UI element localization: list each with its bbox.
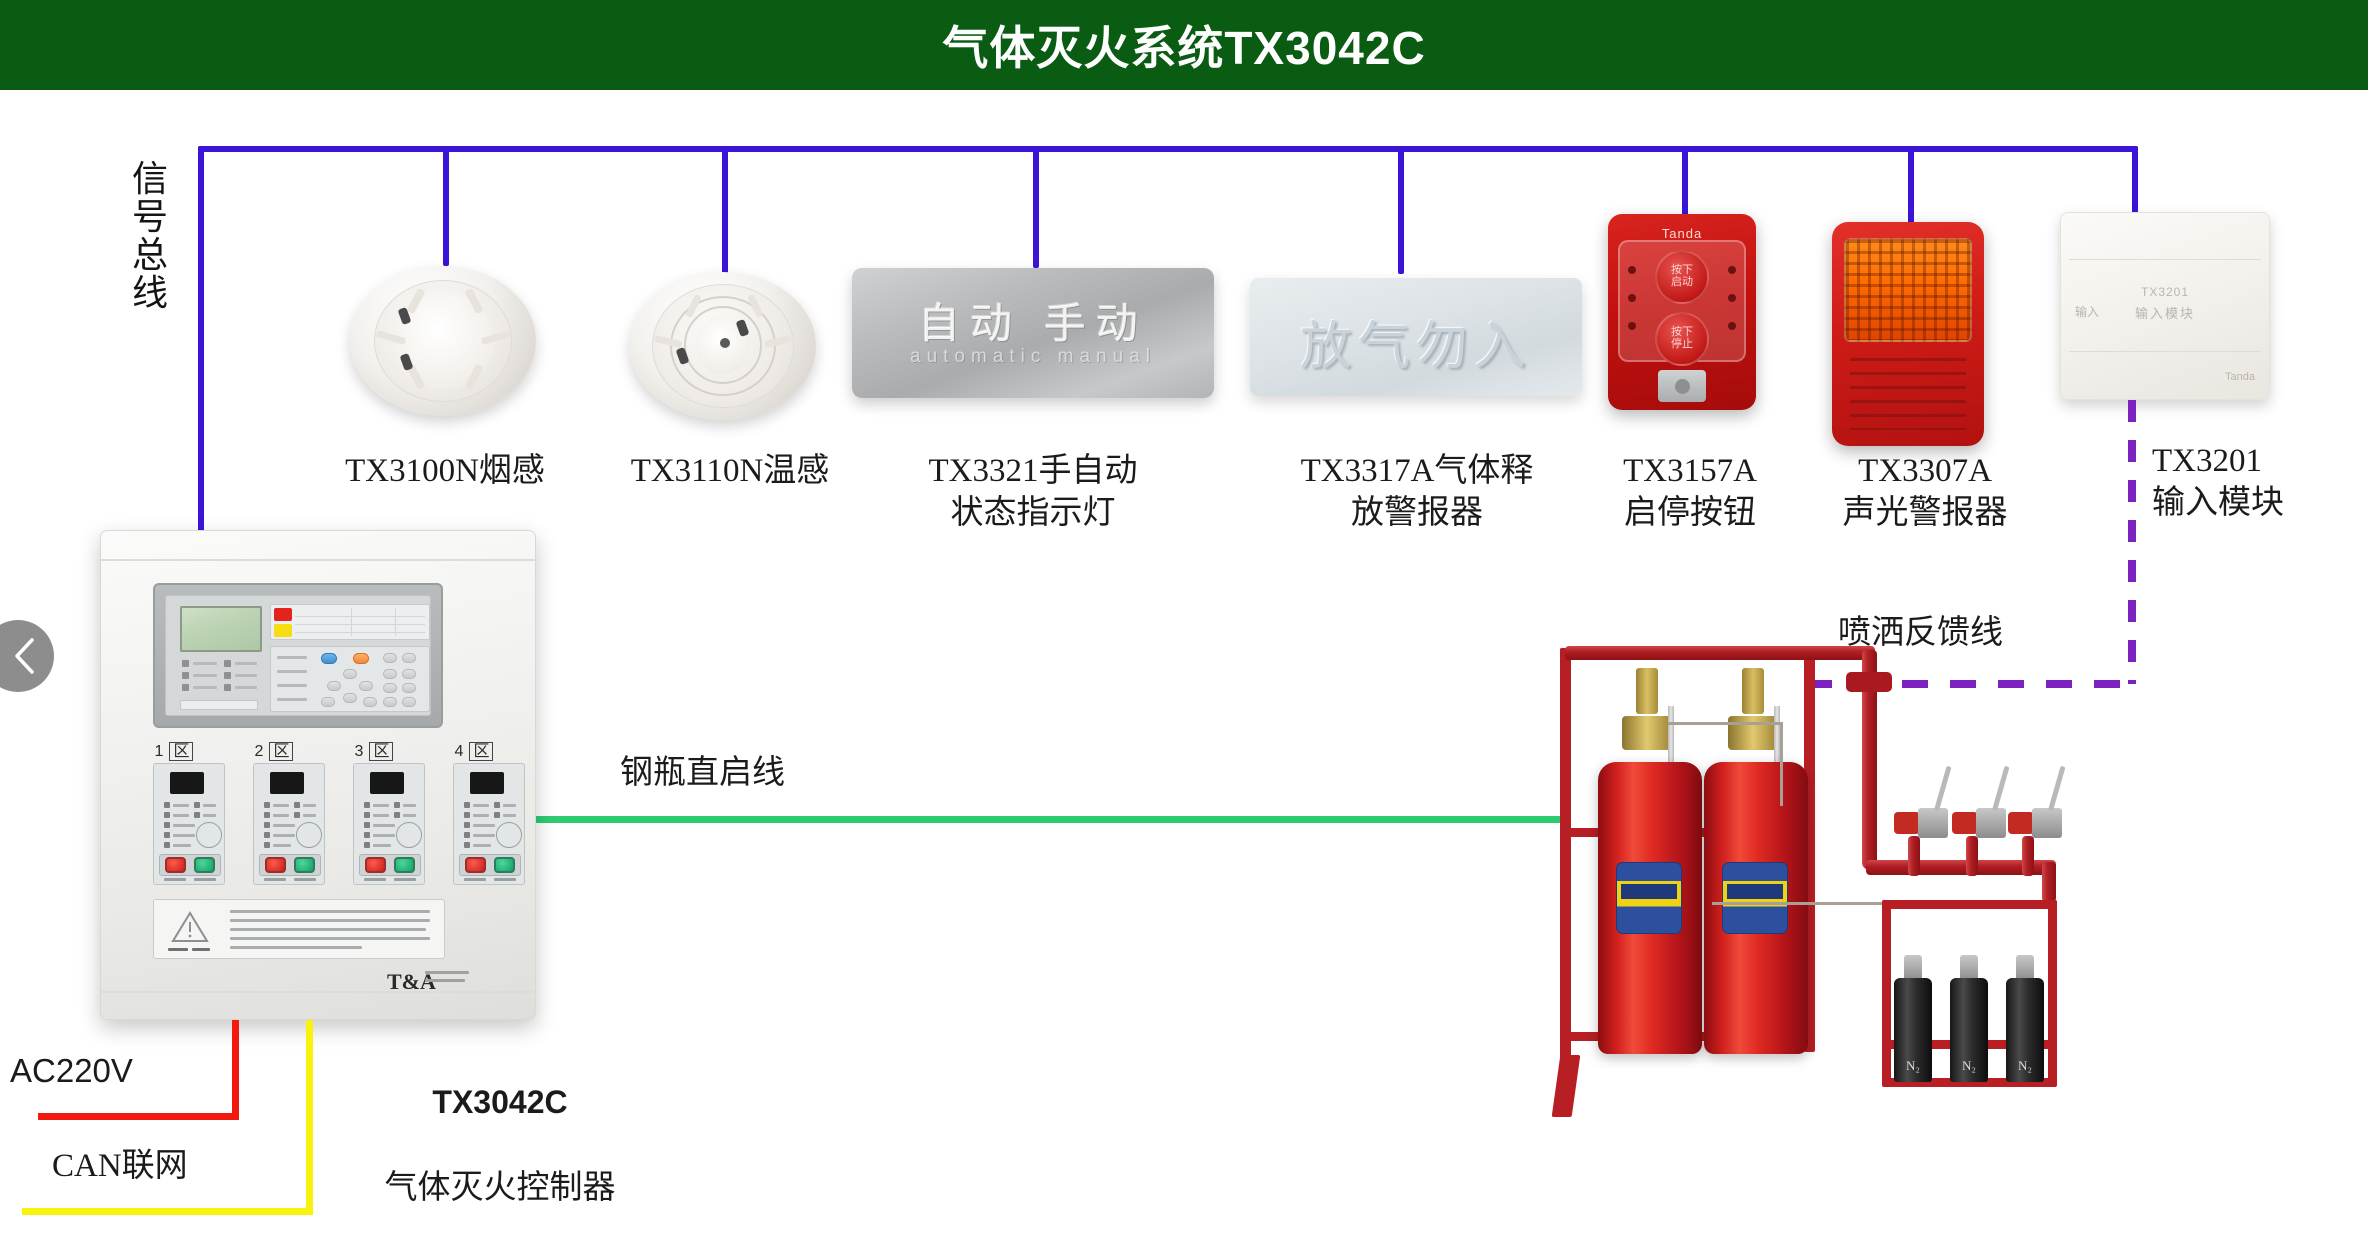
device-tx3157a-start-stop-button[interactable]: Tanda 按下 启动 按下 停止 xyxy=(1608,214,1756,410)
key-switch[interactable] xyxy=(1658,370,1706,402)
n2-actuator-head-2 xyxy=(1952,812,1978,834)
device-tx3317a-gas-release-sign[interactable]: 放气勿入 xyxy=(1250,278,1582,396)
chevron-left-icon xyxy=(12,636,38,676)
manifold-pipe-top xyxy=(1565,646,1875,660)
zone-suffix-2: 区 xyxy=(269,742,293,761)
key-num-2[interactable] xyxy=(402,669,416,679)
key-f1[interactable] xyxy=(383,653,397,663)
cylinder-frame-left xyxy=(1560,648,1571,1064)
panel-caption: TX3042C 气体灭火控制器 xyxy=(330,1040,670,1209)
speaker-grille xyxy=(1850,358,1966,430)
bus-label-char-2: 总 xyxy=(122,236,178,274)
can-network-label: CAN联网 xyxy=(52,1145,292,1187)
signal-bus-trunk xyxy=(198,146,2138,152)
n2-rack-left xyxy=(1882,900,1891,1086)
module-brand-text: Tanda xyxy=(2117,371,2255,383)
panel-keypad[interactable] xyxy=(270,646,430,712)
status-legend-panel xyxy=(270,604,430,640)
status-led-6 xyxy=(224,684,231,691)
cylinder-1-pilot-tube xyxy=(1668,706,1674,768)
device-tx3321-status-indicator[interactable]: 自动 手动 automatic manual xyxy=(852,268,1214,398)
status-led-5 xyxy=(224,672,231,679)
key-num-4[interactable] xyxy=(402,683,416,693)
spray-feedback-wire-vertical xyxy=(2128,400,2136,684)
indicator-led-5 xyxy=(1728,294,1736,302)
signal-bus-drop-tx3317a xyxy=(1398,146,1404,274)
n2-downpipe-1 xyxy=(1908,836,1920,876)
manifold-pipe-down xyxy=(1862,650,1877,770)
lcd-screen xyxy=(180,606,262,652)
rack-pipe-down xyxy=(2042,862,2056,902)
zone-header-3: 3区 xyxy=(329,737,419,761)
device-label-tx3307a: TX3307A 声光警报器 xyxy=(1790,450,2060,534)
signal-bus-drop-tx3157a xyxy=(1682,146,1688,218)
cylinder-2-label xyxy=(1722,862,1788,934)
device-label-tx3201: TX3201 输入模块 xyxy=(2152,440,2362,524)
prev-slide-button[interactable] xyxy=(0,620,54,692)
manifold-pipe-down2 xyxy=(1862,760,1877,870)
zone-start-button[interactable] xyxy=(465,857,486,873)
device-label-tx3110n: TX3110N温感 xyxy=(555,450,905,492)
signal-bus-drop-tx3110n xyxy=(722,146,728,274)
pilot-line-a xyxy=(1668,722,1782,725)
ac220v-wire-horizontal xyxy=(38,1113,239,1120)
zone-stop-button[interactable] xyxy=(394,857,415,873)
pilot-line-b xyxy=(1780,722,1783,806)
indicator-led-4 xyxy=(1728,266,1736,274)
device-label-tx3157a: TX3157A 启停按钮 xyxy=(1570,450,1810,534)
device-tx3042c-control-panel[interactable]: 1区 2区 3区 4区 xyxy=(100,530,536,1020)
fire-alarm-chip xyxy=(274,608,292,621)
strobe-lens xyxy=(1844,238,1972,342)
n2-actuator-valve-2 xyxy=(1976,808,2006,838)
page-header: 气体灭火系统TX3042C xyxy=(0,0,2368,90)
zone-stop-button[interactable] xyxy=(494,857,515,873)
panel-display-inset xyxy=(165,595,431,716)
panel-display-bezel xyxy=(153,583,443,728)
device-tx3100n-smoke-detector[interactable] xyxy=(350,266,536,416)
device-tx3307a-sounder-strobe[interactable] xyxy=(1832,222,1984,446)
panel-warning-plate xyxy=(153,899,445,959)
signal-bus-drop-tx3201 xyxy=(2132,146,2138,214)
key-left[interactable] xyxy=(327,681,341,691)
module-model-text: TX3201 xyxy=(2061,285,2269,299)
key-cancel[interactable] xyxy=(353,653,369,664)
n2-bottle-label-2: N₂ xyxy=(1950,1058,1988,1074)
zone-dial xyxy=(196,822,222,848)
start-button[interactable]: 按下 启动 xyxy=(1655,250,1709,304)
key-down[interactable] xyxy=(343,693,357,703)
indicator-led-3 xyxy=(1628,322,1636,330)
signal-bus-label: 信 号 总 线 xyxy=(122,160,178,313)
diagram-canvas: 气体灭火系统TX3042C 信 号 总 线 TX3100N烟感 xyxy=(0,0,2368,1236)
n2-rack-right xyxy=(2048,900,2057,1086)
status-led-3 xyxy=(182,684,189,691)
zone-window xyxy=(270,772,304,794)
panel-name: 气体灭火控制器 xyxy=(385,1170,616,1206)
module-seam-top xyxy=(2069,259,2261,260)
key-num-6[interactable] xyxy=(402,697,416,707)
panel-model: TX3042C xyxy=(432,1084,567,1120)
card-slot xyxy=(180,700,258,710)
n2-actuator-head-3 xyxy=(2008,812,2034,834)
zone-dial xyxy=(296,822,322,848)
key-num-1[interactable] xyxy=(383,669,397,679)
key-f2[interactable] xyxy=(402,653,416,663)
zone-suffix-1: 区 xyxy=(169,742,193,761)
zone-dial xyxy=(396,822,422,848)
zone-module-4[interactable] xyxy=(453,763,525,885)
zone-number-4: 4 xyxy=(455,743,464,760)
n2-lever-3 xyxy=(2048,766,2065,812)
fault-chip xyxy=(274,624,292,637)
zone-stop-button[interactable] xyxy=(294,857,315,873)
n2-actuator-head-1 xyxy=(1894,812,1920,834)
zone-stop-button[interactable] xyxy=(194,857,215,873)
key-enter[interactable] xyxy=(363,697,377,707)
signal-bus-drop-panel xyxy=(198,146,204,538)
bus-label-char-1: 号 xyxy=(122,198,178,236)
device-brand-text: Tanda xyxy=(1608,226,1756,241)
n2-rack-top xyxy=(1882,900,2057,909)
panel-top-seam xyxy=(101,559,535,561)
device-label-tx3317a: TX3317A气体释 放警报器 xyxy=(1222,450,1612,534)
status-led-2 xyxy=(182,672,189,679)
key-menu[interactable] xyxy=(321,697,335,707)
zone-module-2[interactable] xyxy=(253,763,325,885)
can-wire-horizontal xyxy=(22,1208,313,1215)
n2-bottle-3: N₂ xyxy=(2006,978,2044,1082)
signal-bus-drop-tx3100n xyxy=(443,146,449,266)
cylinder-1-valve xyxy=(1622,716,1672,750)
indicator-led-1 xyxy=(1628,266,1636,274)
n2-bottle-label-1: N₂ xyxy=(1894,1058,1932,1074)
n2-downpipe-3 xyxy=(2022,836,2034,876)
zone-window xyxy=(370,772,404,794)
stop-button[interactable]: 按下 停止 xyxy=(1655,312,1709,366)
pressure-switch xyxy=(1846,672,1892,692)
zone-window xyxy=(170,772,204,794)
bus-label-char-0: 信 xyxy=(122,160,178,198)
device-tx3201-input-module[interactable]: TX3201 输入模块 输入 Tanda xyxy=(2060,212,2270,400)
n2-bottle-label-3: N₂ xyxy=(2006,1058,2044,1074)
status-led-4 xyxy=(224,660,231,667)
n2-actuator-valve-3 xyxy=(2032,808,2062,838)
warning-triangle-icon xyxy=(170,910,210,944)
zone-number-2: 2 xyxy=(255,743,264,760)
module-port-text: 输入 xyxy=(2060,303,2167,320)
n2-bottle-2: N₂ xyxy=(1950,978,1988,1082)
bus-label-char-3: 线 xyxy=(122,274,178,312)
sign-text-cn: 自动 手动 xyxy=(852,290,1214,351)
status-led-1 xyxy=(182,660,189,667)
signal-bus-drop-tx3307a xyxy=(1908,146,1914,224)
zone-header-4: 4区 xyxy=(429,737,519,761)
sign-text-en: automatic manual xyxy=(852,346,1214,368)
zone-start-button[interactable] xyxy=(265,857,286,873)
page-title: 气体灭火系统TX3042C xyxy=(942,12,1425,78)
cylinder-2-neck xyxy=(1742,668,1764,714)
indicator-led-2 xyxy=(1628,294,1636,302)
zone-header-1: 1区 xyxy=(129,737,219,761)
device-label-tx3321: TX3321手自动 状态指示灯 xyxy=(855,450,1211,534)
device-tx3110n-heat-detector[interactable] xyxy=(630,272,816,420)
n2-bottle-1: N₂ xyxy=(1894,978,1932,1082)
zone-start-button[interactable] xyxy=(365,857,386,873)
zone-header-2: 2区 xyxy=(229,737,319,761)
indicator-led-6 xyxy=(1728,322,1736,330)
zone-dial xyxy=(496,822,522,848)
sign-text-cn: 放气勿入 xyxy=(1250,304,1582,379)
cylinder-direct-start-wire xyxy=(528,816,1570,823)
key-up[interactable] xyxy=(343,669,357,679)
n2-downpipe-2 xyxy=(1966,836,1978,876)
cylinder-1-label xyxy=(1616,862,1682,934)
zone-suffix-4: 区 xyxy=(469,742,493,761)
zone-start-button[interactable] xyxy=(165,857,186,873)
panel-bottom-seam xyxy=(101,991,535,993)
n2-lever-1 xyxy=(1934,766,1951,812)
cylinder-frame-foot xyxy=(1552,1055,1581,1117)
module-seam-bottom xyxy=(2069,351,2261,352)
n2-actuator-valve-1 xyxy=(1918,808,1948,838)
signal-bus-drop-tx3321 xyxy=(1033,146,1039,268)
key-confirm[interactable] xyxy=(321,653,337,664)
key-num-5[interactable] xyxy=(383,697,397,707)
cylinder-1-neck xyxy=(1636,668,1658,714)
key-right[interactable] xyxy=(359,681,373,691)
zone-module-3[interactable] xyxy=(353,763,425,885)
zone-window xyxy=(470,772,504,794)
zone-number-1: 1 xyxy=(155,743,164,760)
ac220v-label: AC220V xyxy=(10,1050,240,1092)
zone-module-1[interactable] xyxy=(153,763,225,885)
n2-lever-2 xyxy=(1992,766,2009,812)
can-wire-vertical xyxy=(306,1020,313,1215)
key-num-3[interactable] xyxy=(383,683,397,693)
detector-thermistor xyxy=(720,338,730,348)
zone-suffix-3: 区 xyxy=(369,742,393,761)
cylinder-direct-start-label: 钢瓶直启线 xyxy=(620,752,940,794)
zone-number-3: 3 xyxy=(355,743,364,760)
